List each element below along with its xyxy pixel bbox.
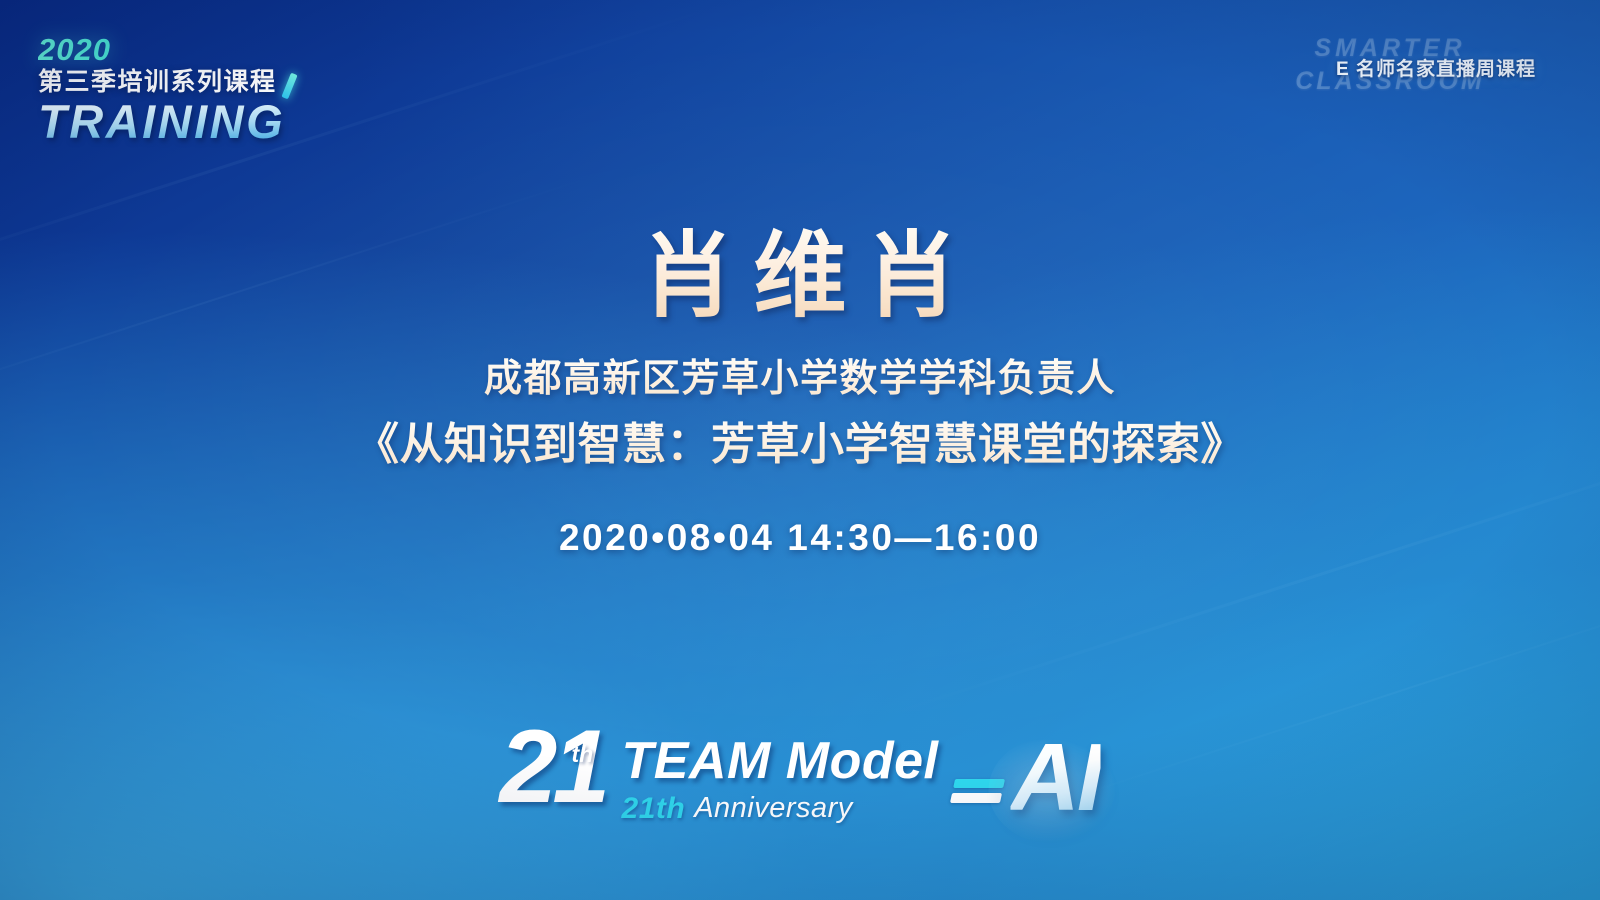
series-title-cn: 第三季培训系列课程 (38, 69, 277, 95)
team-model-ai-logo: 21 th TEAM Model 21th Anniversary AI (500, 718, 1101, 838)
anniversary-word: Anniversary (694, 792, 853, 825)
speaker-block: 肖维肖 成都高新区芳草小学数学学科负责人 《从知识到智慧：芳草小学智慧课堂的探索… (0, 226, 1600, 559)
training-series-logo: 2020 第三季培训系列课程 TRAINING (38, 34, 285, 147)
session-schedule: 2020•08•04 14:30—16:00 (0, 517, 1600, 559)
anniversary-ordinal: th (572, 741, 594, 768)
anniversary-years: 21th (622, 792, 686, 826)
talk-title: 《从知识到智慧：芳草小学智慧课堂的探索》 (0, 416, 1600, 473)
logo-wordmark: TEAM Model 21th Anniversary (622, 731, 939, 826)
decorative-diagonal-line (1038, 573, 1600, 810)
ai-mark: AI (1010, 730, 1100, 826)
series-year: 2020 (38, 34, 285, 65)
product-name: TEAM Model (622, 735, 939, 787)
series-title-en: TRAINING (38, 97, 285, 146)
series-title-cn-text: 第三季培训系列课程 (38, 68, 277, 96)
anniversary-numeral: 21 th (500, 719, 612, 837)
live-course-label: E 名师名家直播周课程 (1336, 54, 1536, 81)
speaker-role: 成都高新区芳草小学数学学科负责人 (0, 356, 1600, 404)
speaker-name: 肖维肖 (19, 226, 1600, 330)
anniversary-tagline: 21th Anniversary (622, 792, 939, 826)
corner-branding: SMARTER CLASSROOM E 名师名家直播周课程 (1240, 32, 1540, 106)
slide-canvas: 2020 第三季培训系列课程 TRAINING SMARTER CLASSROO… (0, 0, 1600, 900)
